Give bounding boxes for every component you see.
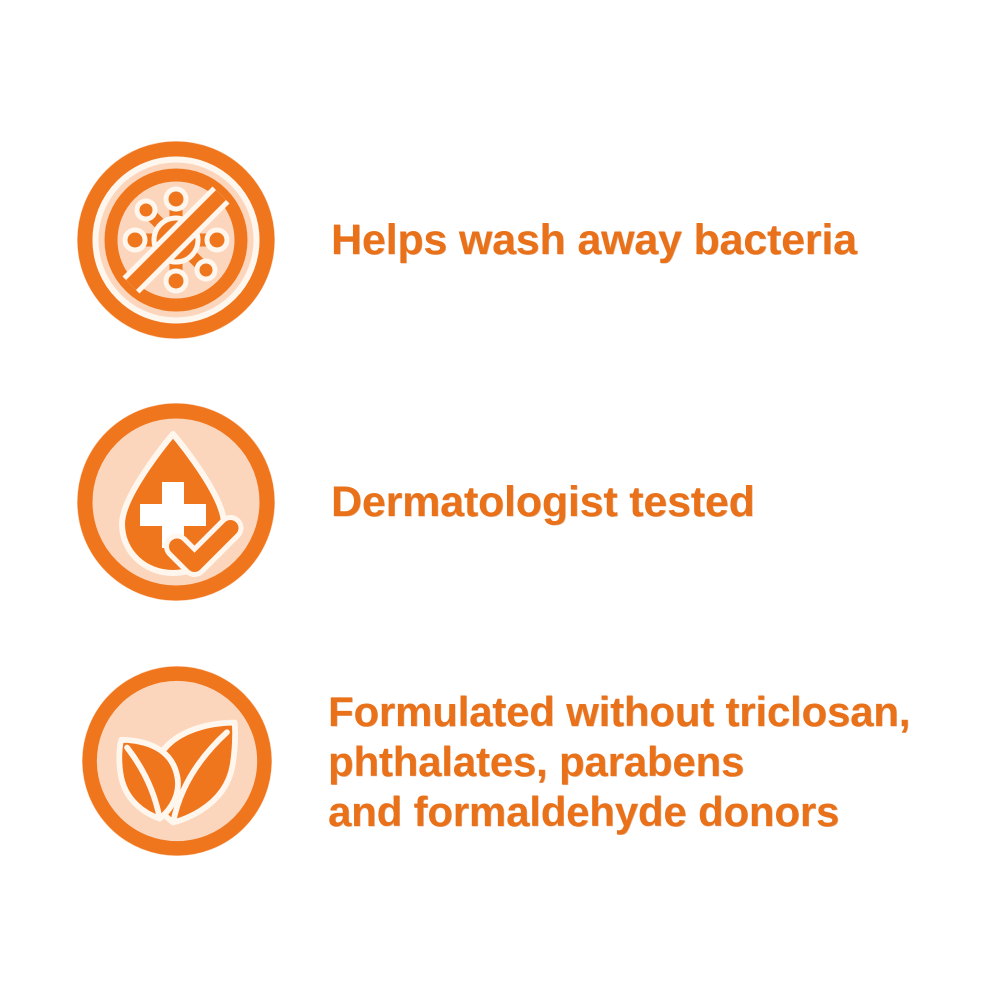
feature-label: Formulated without triclosan, phthalates…	[328, 687, 1000, 837]
benefits-panel: Helps wash away bacteria Dermatologist t…	[0, 0, 1000, 1000]
feature-row: Helps wash away bacteria	[0, 140, 1000, 340]
feature-row: Dermatologist tested	[0, 402, 1000, 602]
feature-row: Formulated without triclosan, phthalates…	[0, 663, 1000, 858]
feature-label: Helps wash away bacteria	[331, 215, 1000, 265]
leaves-icon	[81, 665, 273, 857]
no-bacteria-icon	[76, 140, 276, 340]
droplet-medical-cross-check-icon	[76, 402, 276, 602]
feature-label: Dermatologist tested	[331, 477, 1000, 527]
